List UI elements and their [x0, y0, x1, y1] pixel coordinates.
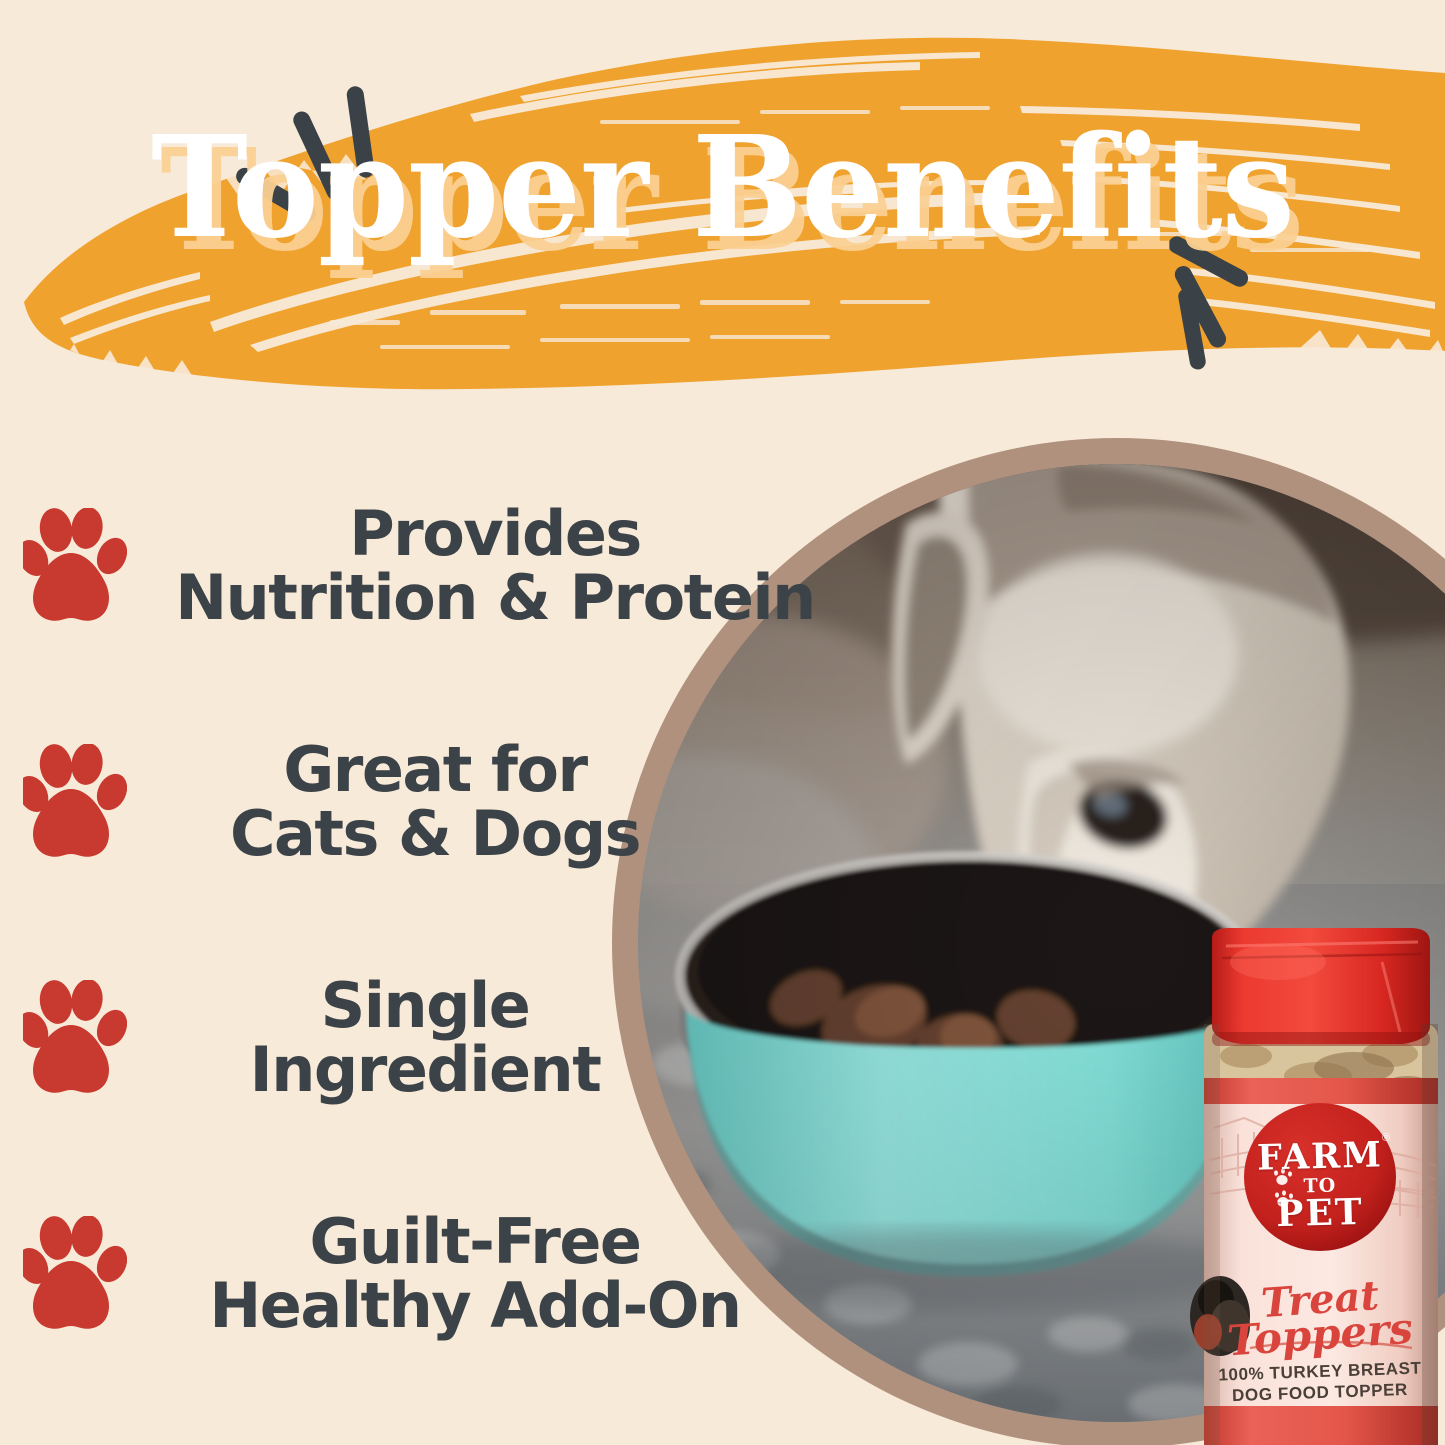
poster-canvas: Topper Benefits — [0, 0, 1445, 1445]
benefit-line-1: Great for — [150, 738, 720, 802]
benefit-line-2: Ingredient — [150, 1038, 700, 1102]
benefits-list: Provides Nutrition & Protein Great for — [0, 448, 900, 1392]
paw-print-icon — [0, 1216, 150, 1332]
paw-print-icon — [0, 508, 150, 624]
benefit-label: Provides Nutrition & Protein — [150, 502, 900, 630]
benefit-label: Guilt-Free Healthy Add-On — [150, 1210, 900, 1338]
benefit-line-2: Healthy Add-On — [150, 1274, 800, 1338]
paw-print-icon — [0, 980, 150, 1096]
benefit-item: Single Ingredient — [0, 920, 900, 1156]
benefit-item: Provides Nutrition & Protein — [0, 448, 900, 684]
page-title: Topper Benefits — [51, 118, 1395, 258]
benefit-line-1: Guilt-Free — [150, 1210, 800, 1274]
benefit-line-1: Provides — [150, 502, 840, 566]
paw-print-icon — [0, 744, 150, 860]
product-bottle: ® — [1186, 928, 1445, 1445]
bottle-shape: ® — [1186, 928, 1445, 1445]
header-banner: Topper Benefits — [0, 0, 1445, 420]
benefit-line-2: Nutrition & Protein — [150, 566, 840, 630]
benefit-label: Great for Cats & Dogs — [150, 738, 900, 866]
benefit-line-2: Cats & Dogs — [150, 802, 720, 866]
benefit-item: Guilt-Free Healthy Add-On — [0, 1156, 900, 1392]
benefit-item: Great for Cats & Dogs — [0, 684, 900, 920]
benefit-line-1: Single — [150, 974, 700, 1038]
benefit-label: Single Ingredient — [150, 974, 900, 1102]
svg-text:®: ® — [1382, 1132, 1390, 1144]
